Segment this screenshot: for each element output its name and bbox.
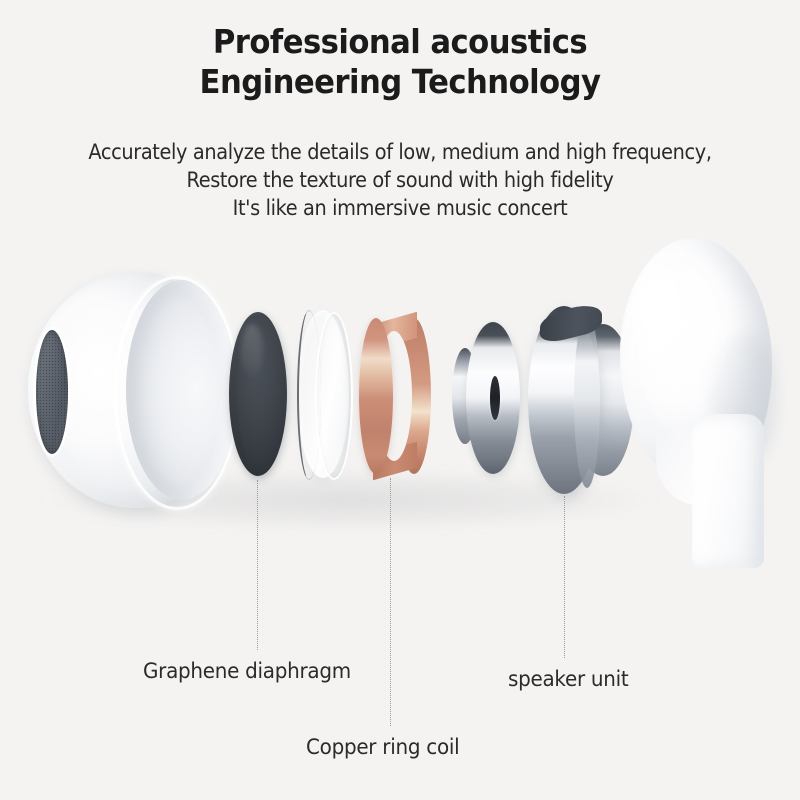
clear-ring-right-rim <box>315 312 353 480</box>
leader-line-copper <box>390 478 391 726</box>
earbud-shell-highlight <box>632 266 690 376</box>
leader-line-graphene <box>257 480 258 650</box>
copper-coil-front-wall <box>359 318 393 474</box>
clear-acrylic-ring-part <box>297 310 349 478</box>
earbud-shell-stem <box>692 414 764 568</box>
ear-tip-mesh-grille-icon <box>36 330 68 454</box>
product-infographic: Professional acoustics Engineering Techn… <box>0 0 800 800</box>
magnet-plate-part <box>452 322 520 474</box>
callout-label-speaker-unit: speaker unit <box>508 666 628 692</box>
earbud-shell-part <box>614 238 800 568</box>
leader-line-speaker <box>564 496 565 658</box>
exploded-diagram: Graphene diaphragm Copper ring coil spea… <box>0 0 800 800</box>
graphene-diaphragm-part <box>229 312 287 476</box>
callout-label-copper-ring-coil: Copper ring coil <box>306 734 459 760</box>
copper-ring-coil-part <box>359 318 431 474</box>
ear-tip-dome-part <box>28 272 234 508</box>
ear-tip-cavity-lip <box>114 276 240 510</box>
callout-label-graphene-diaphragm: Graphene diaphragm <box>143 658 351 684</box>
magnet-plate-vent-slot <box>490 376 500 420</box>
diaphragm-highlight <box>241 324 263 378</box>
speaker-driver-rim <box>574 312 600 488</box>
